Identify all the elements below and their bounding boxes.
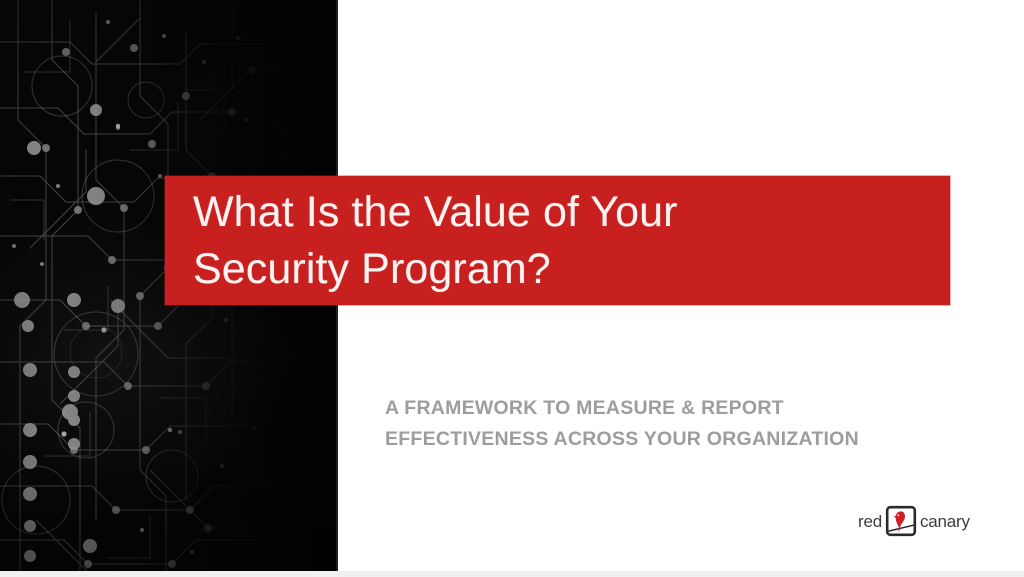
- logo-word-red: red: [858, 513, 882, 530]
- red-canary-logo: red canary: [858, 500, 976, 542]
- canary-bird-icon: [884, 504, 918, 538]
- page-title: What Is the Value of Your Security Progr…: [193, 184, 678, 298]
- logo-word-canary: canary: [920, 513, 970, 530]
- bottom-edge-strip: [0, 571, 1024, 577]
- presentation-slide: What Is the Value of Your Security Progr…: [0, 0, 1024, 577]
- title-banner: What Is the Value of Your Security Progr…: [165, 176, 950, 305]
- slide-subtitle: A FRAMEWORK TO MEASURE & REPORT EFFECTIV…: [385, 393, 925, 455]
